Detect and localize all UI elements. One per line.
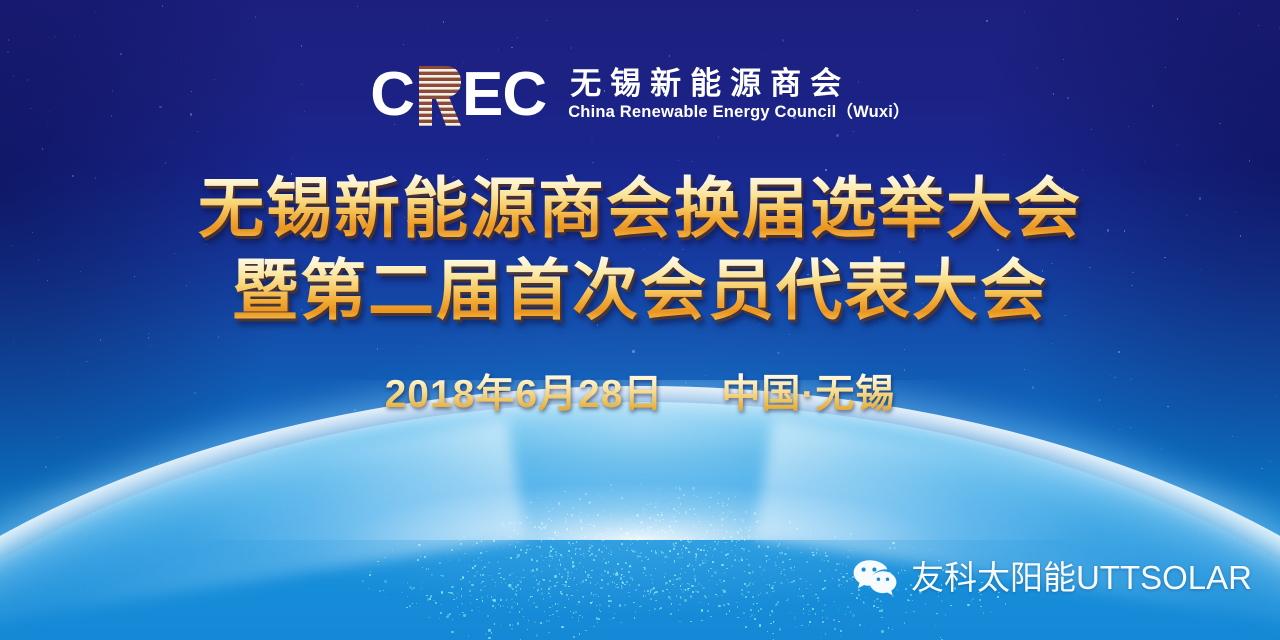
event-poster: C [0, 0, 1280, 640]
globe-horizon-glow [0, 386, 1280, 640]
crec-letter-c: C [370, 64, 414, 126]
earth-globe [0, 380, 1280, 640]
striped-letter-r-icon [415, 66, 461, 126]
globe-limb-streak-left [0, 419, 526, 625]
headline-line-2: 暨第二届首次会员代表大会 [0, 252, 1280, 328]
crec-chinese-name: 无锡新能源商会 [568, 67, 910, 101]
event-location: 中国·无锡 [721, 372, 895, 418]
crec-letters-ec: EC [462, 64, 546, 126]
event-meta: 2018年6月28日 中国·无锡 [0, 372, 1280, 418]
headline-line-1: 无锡新能源商会换届选举大会 [0, 170, 1280, 246]
page-title: 无锡新能源商会换届选举大会 暨第二届首次会员代表大会 [0, 170, 1280, 328]
watermark-label: 友科太阳能UTTSOLAR [911, 559, 1252, 597]
wechat-icon [852, 558, 898, 598]
crec-names: 无锡新能源商会 China Renewable Energy Council（W… [568, 67, 910, 124]
city-lights [0, 402, 1280, 640]
crec-logo: C [0, 64, 1280, 126]
event-date: 2018年6月28日 [385, 372, 664, 418]
crec-wordmark: C [370, 64, 546, 126]
globe-surface [0, 402, 1280, 640]
wechat-watermark: 友科太阳能UTTSOLAR [852, 558, 1252, 598]
crec-english-name: China Renewable Energy Council（Wuxi） [568, 103, 910, 122]
